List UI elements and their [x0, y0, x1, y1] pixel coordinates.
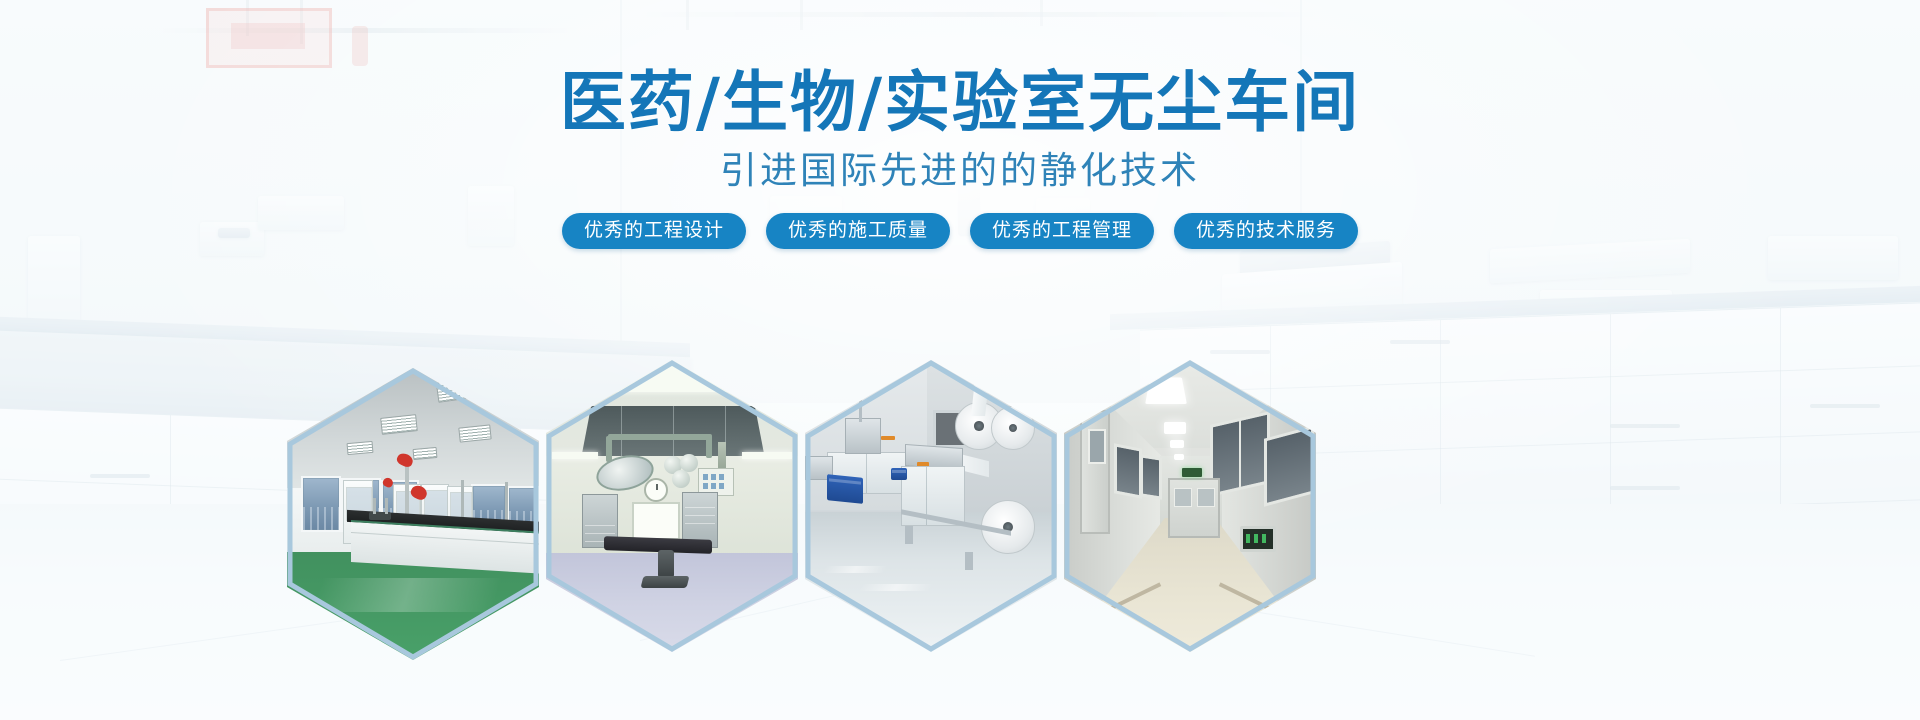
hexagon-outline [546, 360, 798, 652]
page-title: 医药/生物/实验室无尘车间 [0, 70, 1920, 136]
feature-pill-list: 优秀的工程设计 优秀的施工质量 优秀的工程管理 优秀的技术服务 [0, 213, 1920, 249]
hexagon-outline [287, 368, 539, 660]
hexagon-outline [805, 360, 1057, 652]
feature-pill-quality[interactable]: 优秀的施工质量 [766, 213, 950, 249]
page-subtitle: 引进国际先进的的静化技术 [0, 152, 1920, 189]
hero-text-block: 医药/生物/实验室无尘车间 引进国际先进的的静化技术 优秀的工程设计 优秀的施工… [0, 70, 1920, 249]
cleanroom-hero-banner: 医药/生物/实验室无尘车间 引进国际先进的的静化技术 优秀的工程设计 优秀的施工… [0, 0, 1920, 720]
hexagon-corridor[interactable] [1064, 360, 1316, 652]
hexagon-outline [1064, 360, 1316, 652]
hexagon-production-line[interactable] [805, 360, 1057, 652]
hexagon-operating-room[interactable] [546, 360, 798, 652]
feature-pill-service[interactable]: 优秀的技术服务 [1174, 213, 1358, 249]
hexagon-gallery [0, 368, 1920, 668]
hexagon-lab[interactable] [287, 368, 539, 660]
feature-pill-design[interactable]: 优秀的工程设计 [562, 213, 746, 249]
feature-pill-management[interactable]: 优秀的工程管理 [970, 213, 1154, 249]
